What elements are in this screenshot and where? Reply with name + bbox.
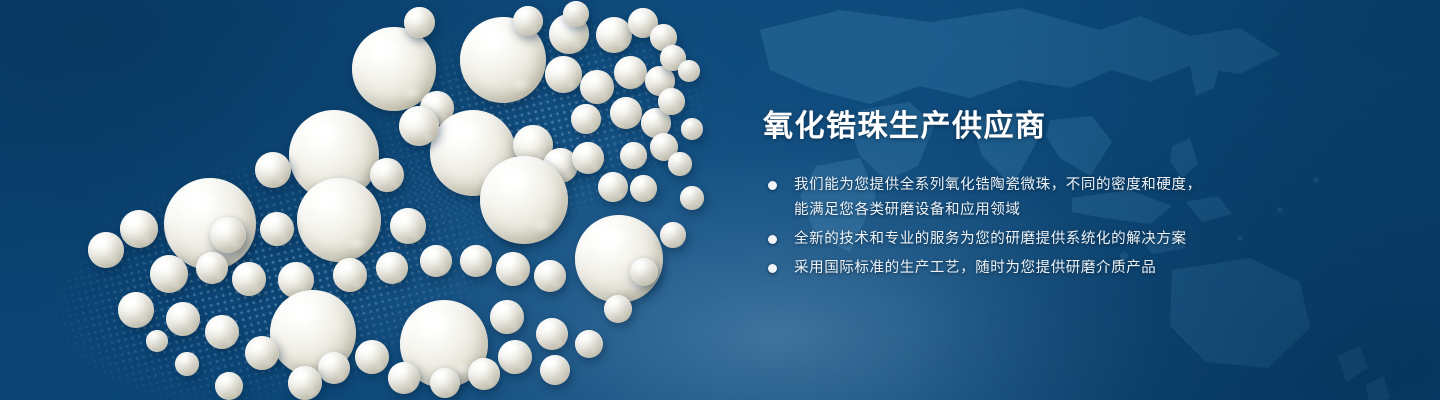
ceramic-bead xyxy=(572,142,604,174)
ceramic-bead xyxy=(88,232,124,268)
ceramic-bead xyxy=(388,362,420,394)
ceramic-bead xyxy=(490,300,524,334)
ceramic-bead xyxy=(596,17,632,53)
ceramic-bead xyxy=(604,295,632,323)
ceramic-bead xyxy=(598,172,628,202)
ceramic-bead xyxy=(166,302,200,336)
ceramic-bead xyxy=(420,245,452,277)
ceramic-bead xyxy=(118,292,154,328)
ceramic-bead xyxy=(355,340,389,374)
ceramic-bead xyxy=(563,1,589,27)
ceramic-bead xyxy=(232,262,266,296)
ceramic-bead xyxy=(404,7,435,38)
ceramic-bead xyxy=(571,104,601,134)
ceramic-bead xyxy=(540,355,570,385)
ceramic-bead xyxy=(536,318,568,350)
ceramic-bead xyxy=(668,152,692,176)
banner-bullet-item: 采用国际标准的生产工艺，随时为您提供研磨介质产品 xyxy=(763,256,1403,281)
ceramic-bead xyxy=(680,186,704,210)
ceramic-bead xyxy=(288,366,322,400)
ceramic-bead xyxy=(146,330,168,352)
banner-bullet-item: 全新的技术和专业的服务为您的研磨提供系统化的解决方案 xyxy=(763,227,1403,252)
ceramic-bead xyxy=(468,358,500,390)
banner-bullet-line: 能满足您各类研磨设备和应用领域 xyxy=(794,198,1403,223)
ceramic-bead xyxy=(120,210,158,248)
dot-marker-icon xyxy=(768,264,777,273)
ceramic-bead xyxy=(534,260,566,292)
ceramic-bead xyxy=(205,315,239,349)
hero-banner: 氧化锆珠生产供应商 我们能为您提供全系列氧化锆陶瓷微珠，不同的密度和硬度，能满足… xyxy=(0,0,1440,400)
dot-marker-icon xyxy=(768,235,777,244)
dot-marker-icon xyxy=(768,181,777,190)
banner-bullet-line: 全新的技术和专业的服务为您的研磨提供系统化的解决方案 xyxy=(794,227,1403,252)
ceramic-bead xyxy=(390,208,426,244)
ceramic-bead xyxy=(150,255,188,293)
banner-headline: 氧化锆珠生产供应商 xyxy=(763,108,1403,146)
ceramic-bead xyxy=(630,175,657,202)
ceramic-bead xyxy=(399,106,439,146)
ceramic-bead xyxy=(196,252,228,284)
ceramic-bead xyxy=(460,245,492,277)
ceramic-bead xyxy=(210,217,246,253)
banner-bullet-item: 我们能为您提供全系列氧化锆陶瓷微珠，不同的密度和硬度，能满足您各类研磨设备和应用… xyxy=(763,173,1403,223)
ceramic-bead xyxy=(614,56,647,89)
ceramic-bead xyxy=(575,330,603,358)
ceramic-bead xyxy=(630,258,658,286)
ceramic-bead xyxy=(260,212,294,246)
ceramic-bead xyxy=(370,158,404,192)
ceramic-bead xyxy=(297,178,381,262)
ceramic-bead xyxy=(545,56,582,93)
ceramic-bead xyxy=(681,118,703,140)
ceramic-bead xyxy=(620,142,647,169)
ceramic-bead xyxy=(318,352,350,384)
ceramic-bead xyxy=(658,88,685,115)
ceramic-bead xyxy=(580,70,614,104)
ceramic-bead xyxy=(513,6,543,36)
ceramic-bead xyxy=(678,60,700,82)
ceramic-bead xyxy=(215,372,243,400)
ceramic-bead xyxy=(245,336,279,370)
ceramic-bead xyxy=(255,152,291,188)
ceramic-bead xyxy=(496,252,530,286)
ceramic-bead xyxy=(610,97,642,129)
ceramic-bead xyxy=(430,368,460,398)
zirconia-ceramic-beads-photo xyxy=(0,0,760,400)
banner-bullet-line: 采用国际标准的生产工艺，随时为您提供研磨介质产品 xyxy=(794,256,1403,281)
ceramic-bead xyxy=(498,340,532,374)
ceramic-bead xyxy=(175,352,199,376)
ceramic-bead xyxy=(376,252,408,284)
banner-copy: 氧化锆珠生产供应商 我们能为您提供全系列氧化锆陶瓷微珠，不同的密度和硬度，能满足… xyxy=(763,108,1403,285)
ceramic-bead xyxy=(660,222,686,248)
ceramic-bead xyxy=(333,258,367,292)
banner-bullet-list: 我们能为您提供全系列氧化锆陶瓷微珠，不同的密度和硬度，能满足您各类研磨设备和应用… xyxy=(763,173,1403,281)
ceramic-bead xyxy=(480,156,568,244)
banner-bullet-line: 我们能为您提供全系列氧化锆陶瓷微珠，不同的密度和硬度， xyxy=(794,173,1403,198)
